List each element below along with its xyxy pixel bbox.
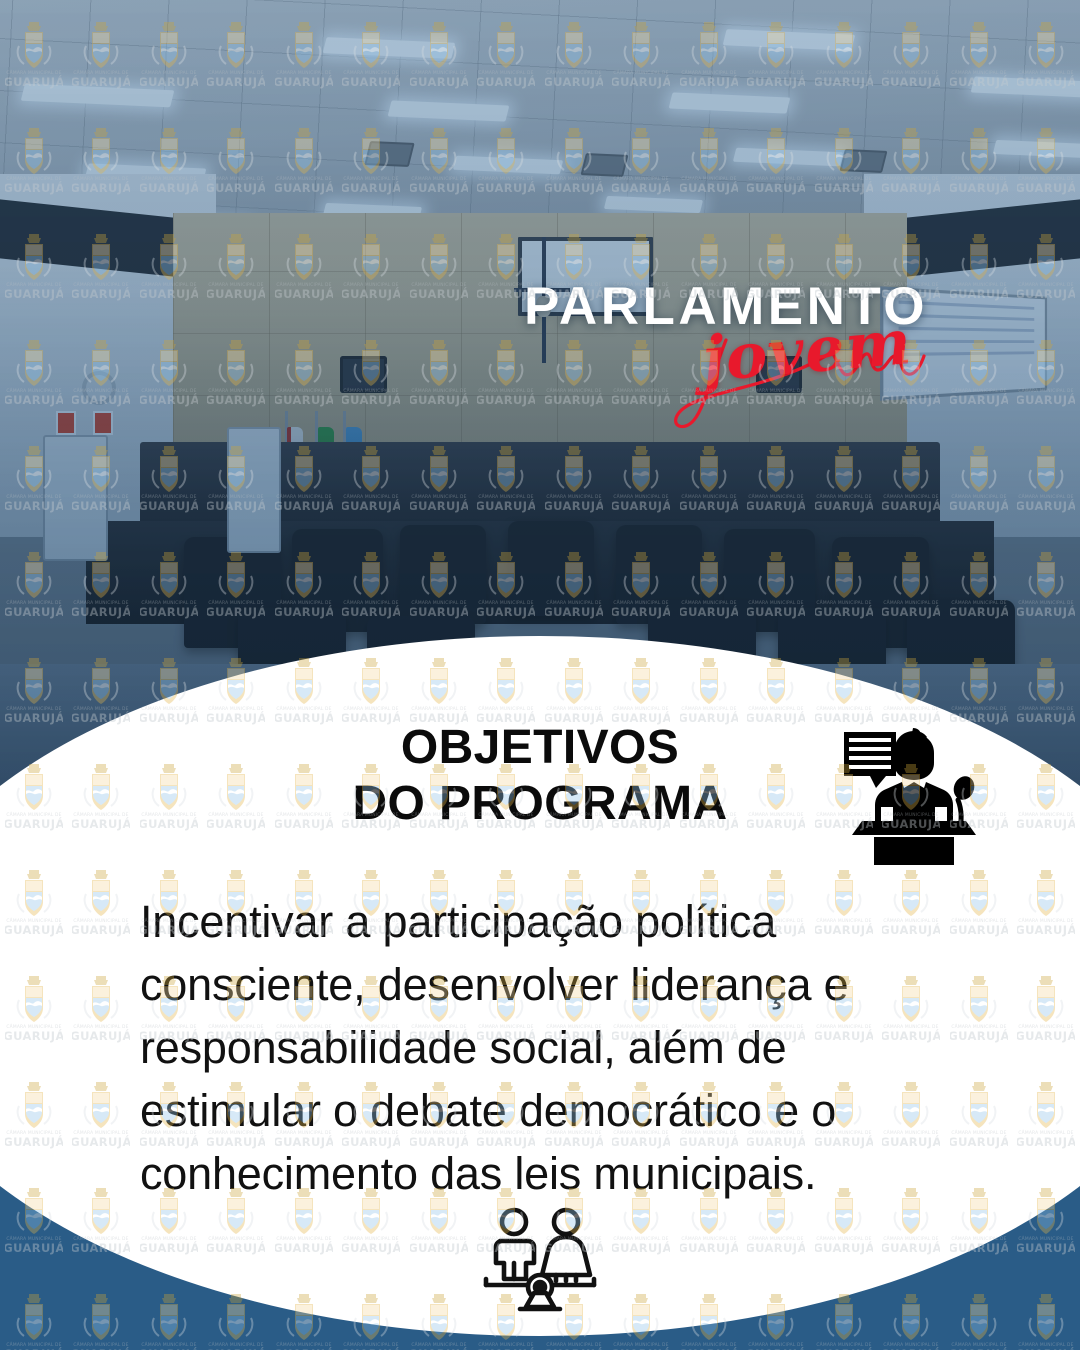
program-logo: PARLAMENTO jovem [524, 276, 944, 426]
gender-equality-balance-icon [470, 1203, 610, 1313]
program-objectives-text: Incentivar a participação política consc… [140, 890, 950, 1205]
social-media-poster: PARLAMENTO jovem OBJETIVOS DO PROGRAMA [0, 0, 1080, 1350]
card-content: OBJETIVOS DO PROGRAMA [0, 636, 1080, 1350]
speaker-podium-icon [840, 726, 988, 866]
